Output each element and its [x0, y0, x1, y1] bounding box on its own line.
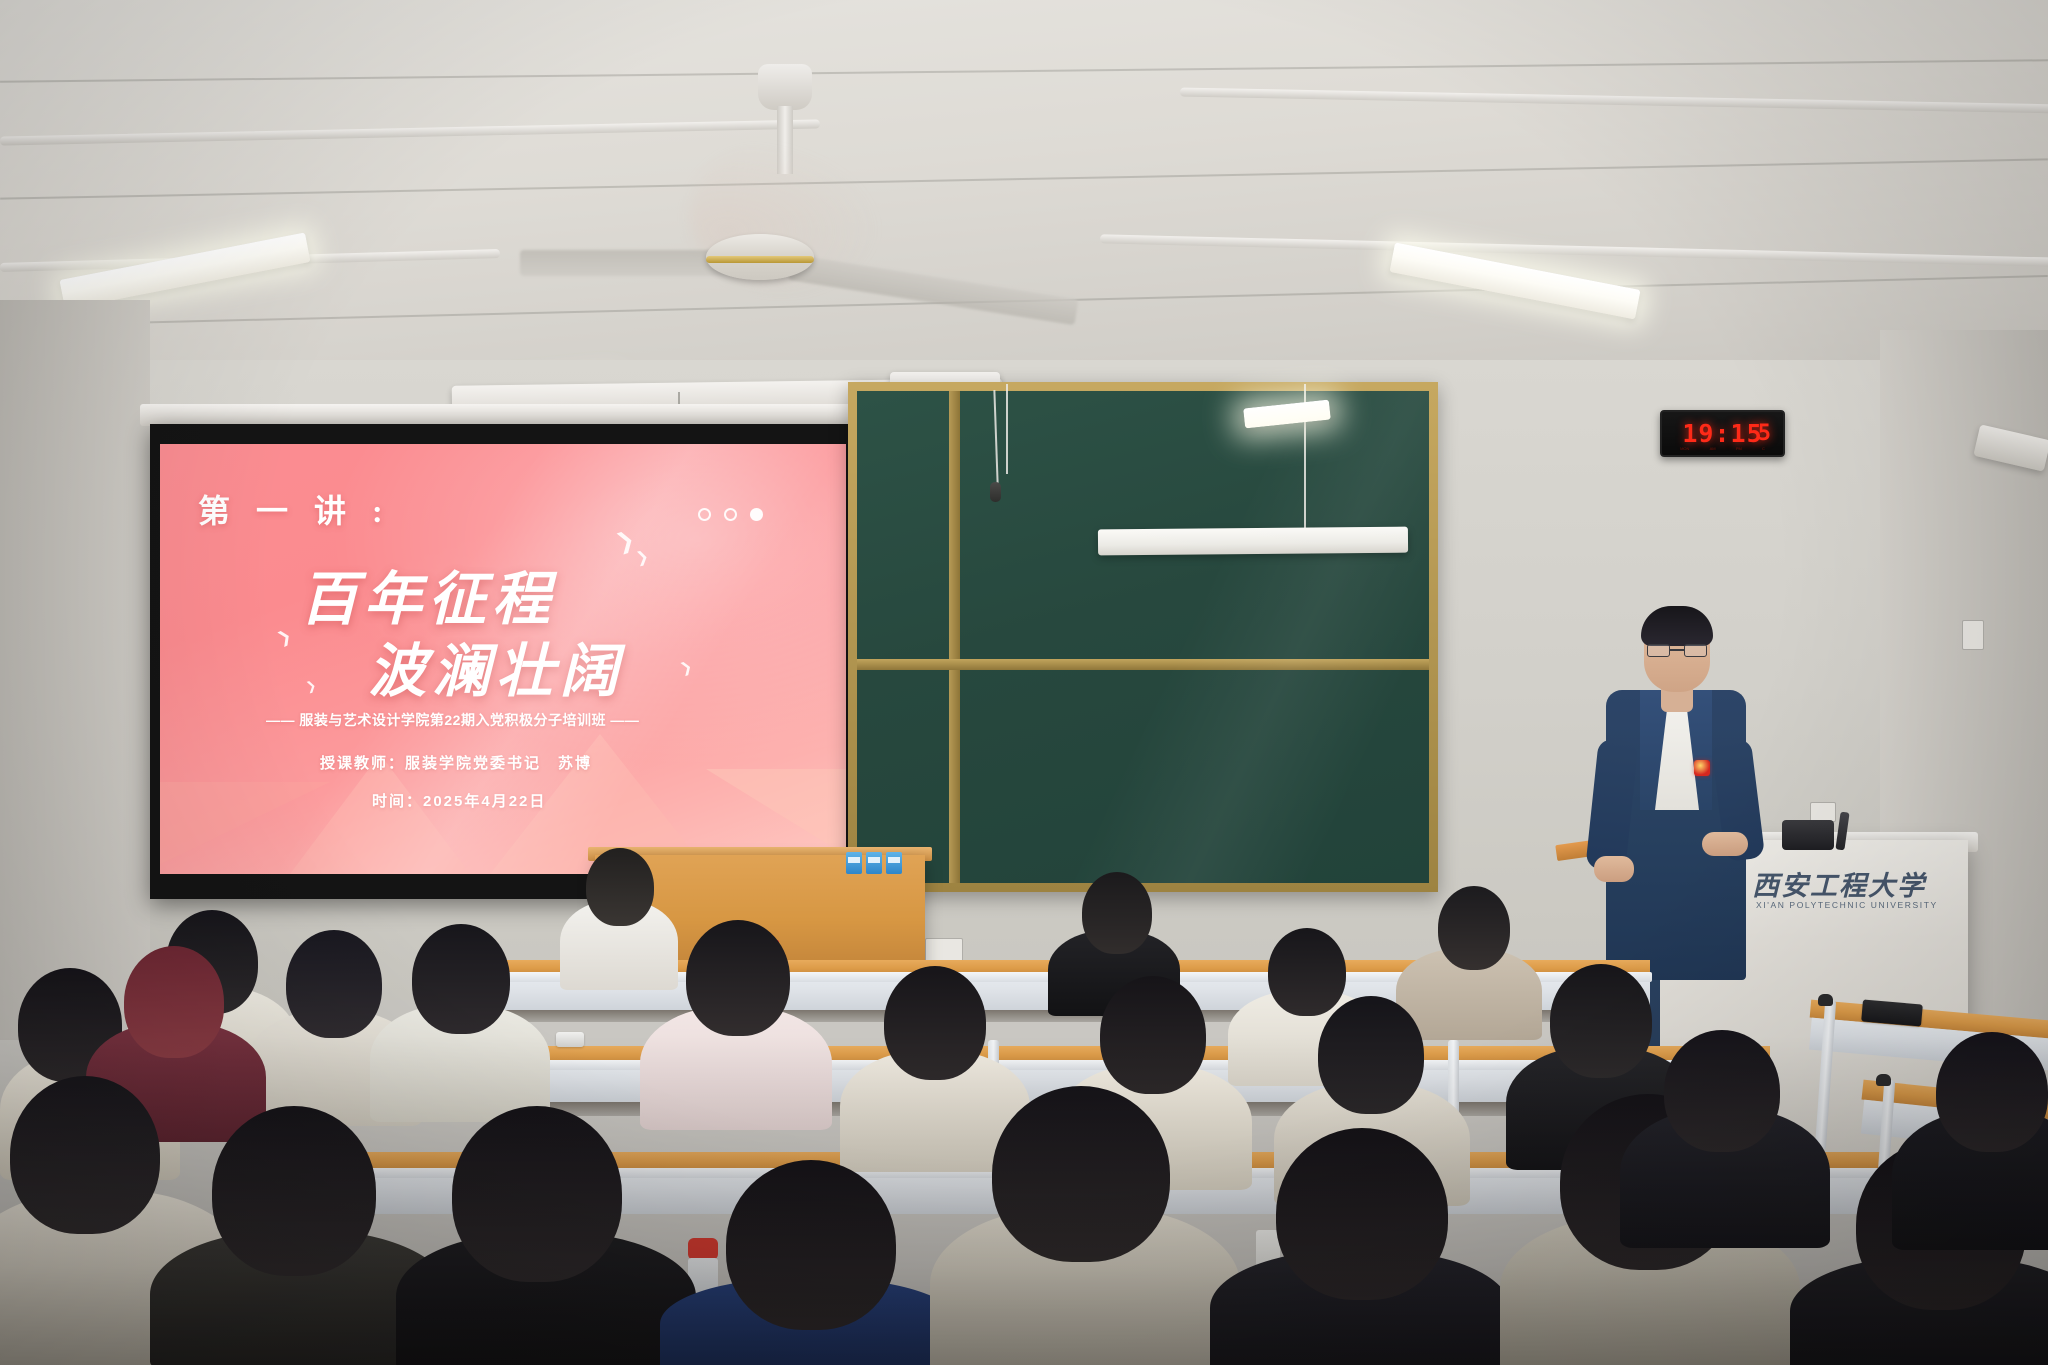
dot-outline-icon	[724, 508, 737, 521]
slide-dot-decoration	[698, 508, 763, 521]
slide-date-text: 时间：2025年4月22日	[372, 790, 546, 811]
glasses-bridge	[1670, 649, 1684, 651]
dot-outline-icon	[698, 508, 711, 521]
fan-hub-band	[706, 256, 814, 263]
lamp-cord	[1006, 384, 1008, 474]
clock-labels: MONAMPMC	[1670, 446, 1775, 451]
chalk-box[interactable]	[866, 852, 882, 874]
slide-teacher-text: 授课教师：服装学院党委书记 苏博	[320, 752, 592, 773]
bird-icon: ❯	[275, 628, 294, 648]
glasses-icon	[1647, 644, 1707, 657]
bottle-cap	[688, 1238, 718, 1260]
digital-clock: 19:15 5 MONAMPMC	[1660, 410, 1785, 457]
slide-rule-text: —— 服装与艺术设计学院第22期入党积极分子培训班 ——	[266, 710, 639, 730]
remote-control[interactable]	[1782, 820, 1834, 850]
party-badge-icon	[1694, 760, 1710, 776]
wall-socket[interactable]	[1810, 802, 1836, 822]
podium-logo-en: XI'AN POLYTECHNIC UNIVERSITY	[1756, 900, 1938, 910]
blackboard-surface	[857, 391, 1429, 883]
blackboard	[848, 382, 1438, 892]
clock-seconds: 5	[1758, 421, 1771, 446]
desk-leg-cap	[1818, 994, 1833, 1006]
left-wall	[0, 300, 150, 1040]
cord-knob[interactable]	[990, 482, 1001, 502]
slide-kicker: 第 一 讲 :	[198, 486, 392, 532]
phone-device[interactable]	[556, 1032, 584, 1047]
projection-screen-frame: ❯ ❯ ❯ ❯ ❯ 第 一 讲 : 百年征程 波澜壮阔 —— 服装与艺术设计学院…	[150, 424, 856, 899]
speaker-hair	[1641, 606, 1713, 646]
clock-time: 19:15	[1682, 419, 1762, 448]
desk-leg-cap	[1876, 1074, 1891, 1086]
slide-title-line2: 波澜壮阔	[368, 624, 624, 708]
bird-icon: ❯	[635, 549, 650, 566]
speaker-left-hand	[1594, 856, 1634, 882]
fan-mount	[758, 64, 812, 110]
screen-roller	[140, 404, 870, 426]
bird-icon: ❯	[305, 679, 318, 693]
glasses-lens	[1647, 644, 1670, 657]
bird-icon: ❯	[678, 658, 694, 675]
projection-screen: ❯ ❯ ❯ ❯ ❯ 第 一 讲 : 百年征程 波澜壮阔 —— 服装与艺术设计学院…	[160, 444, 846, 874]
glasses-lens	[1684, 644, 1707, 657]
podium-logo-cn: 西安工程大学	[1752, 864, 1926, 903]
chalk-box[interactable]	[886, 852, 902, 874]
chalk-box[interactable]	[846, 852, 862, 874]
blackboard-sheen	[857, 391, 1429, 883]
speaker-right-hand	[1702, 832, 1748, 856]
wall-socket[interactable]	[1962, 620, 1984, 650]
board-light-bar	[1098, 527, 1408, 556]
lecture-hall-scene: ❯ ❯ ❯ ❯ ❯ 第 一 讲 : 百年征程 波澜壮阔 —— 服装与艺术设计学院…	[0, 0, 2048, 1365]
dot-filled-icon	[750, 508, 763, 521]
